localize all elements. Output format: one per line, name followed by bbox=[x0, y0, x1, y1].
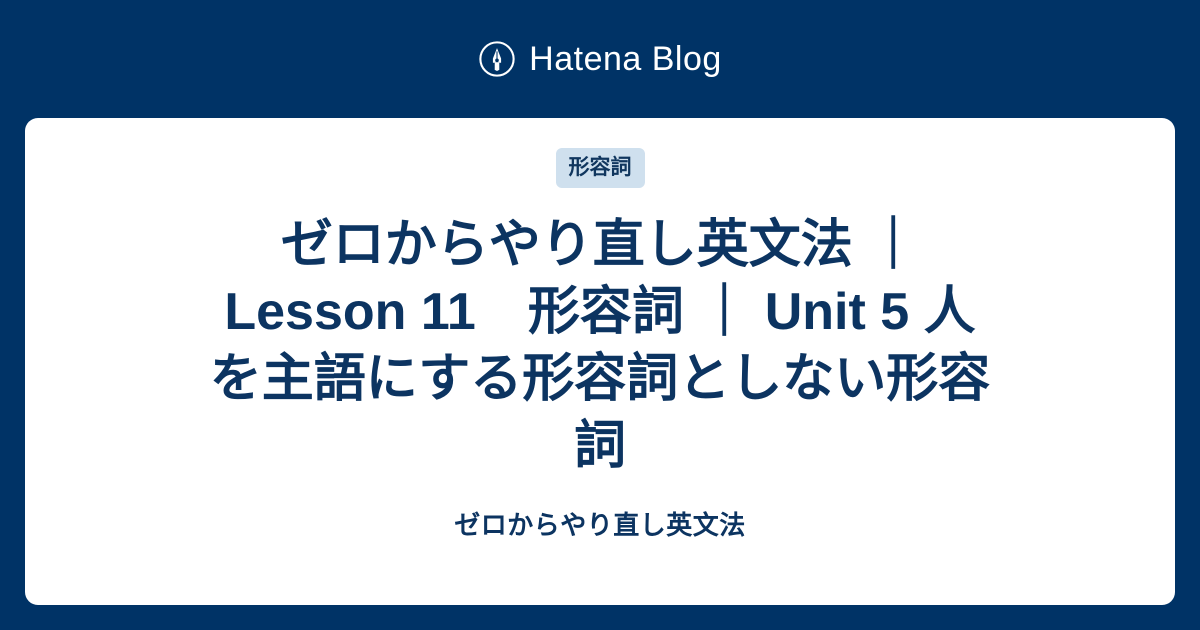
entry-card: 形容詞 ゼロからやり直し英文法 ｜ Lesson 11 形容詞 ｜ Unit 5… bbox=[25, 118, 1175, 605]
page-title: ゼロからやり直し英文法 ｜ Lesson 11 形容詞 ｜ Unit 5 人を主… bbox=[200, 212, 1000, 480]
hatena-pen-nib-icon bbox=[478, 40, 516, 78]
og-image-card: Hatena Blog 形容詞 ゼロからやり直し英文法 ｜ Lesson 11 … bbox=[0, 0, 1200, 630]
brand-header: Hatena Blog bbox=[0, 0, 1200, 118]
blog-name-label: ゼロからやり直し英文法 bbox=[454, 510, 746, 541]
category-badge[interactable]: 形容詞 bbox=[556, 148, 645, 188]
brand-name-label: Hatena Blog bbox=[529, 42, 722, 76]
